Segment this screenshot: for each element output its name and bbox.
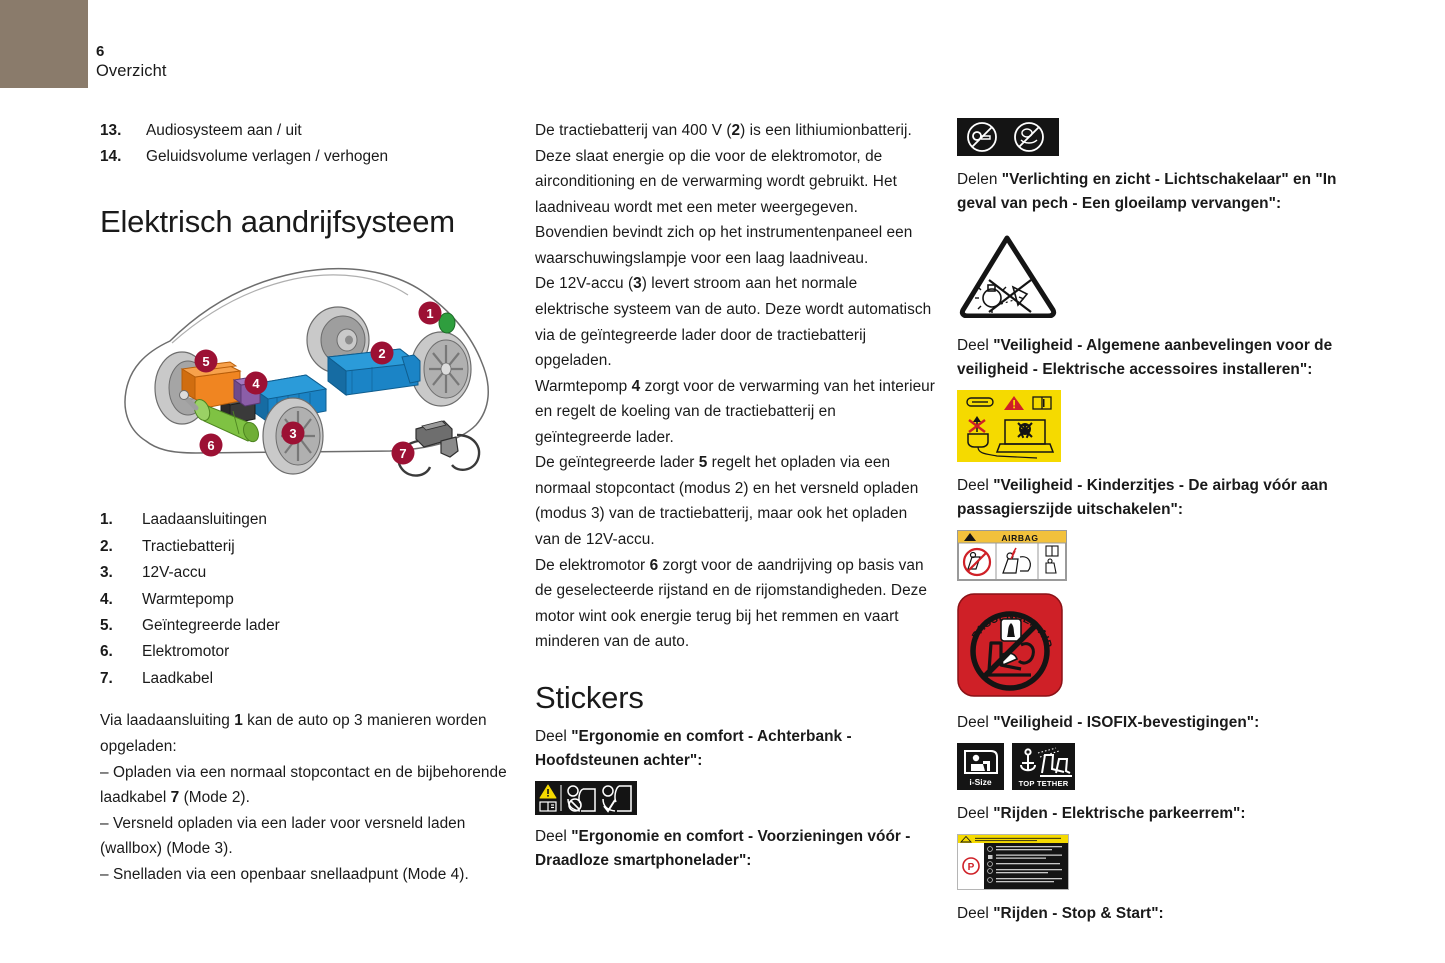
list-item-number: 1. — [100, 507, 142, 533]
part-reference: 1 — [234, 712, 243, 729]
list-item: 5.Geïntegreerde lader — [100, 613, 510, 639]
sticker-caption-parking-brake: Deel "Rijden - Elektrische parkeerrem": — [957, 802, 1357, 826]
dash-marker: – — [100, 815, 109, 832]
sticker-caption-stop-start: Deel "Rijden - Stop & Start": — [957, 902, 1357, 926]
list-item-label: Laadaansluitingen — [142, 507, 510, 533]
paragraph-text: Opladen via een normaal stopcontact en d… — [100, 764, 507, 807]
callout-2: 2 — [371, 342, 394, 365]
charging-intro: Via laadaansluiting 1 kan de auto op 3 m… — [100, 708, 510, 759]
list-item-number: 13. — [100, 118, 146, 144]
top-tether-sticker: TOP TETHER — [1012, 743, 1075, 790]
airbag-burst-icon — [1001, 619, 1021, 641]
list-item-label: Elektromotor — [142, 639, 510, 665]
parts-list: 1.Laadaansluitingen2.Tractiebatterij3.12… — [100, 507, 510, 692]
paragraph-text: De elektromotor — [535, 557, 650, 574]
list-item-number: 6. — [100, 639, 142, 665]
headrest-warning-sticker — [535, 781, 637, 815]
part-reference: 2 — [732, 122, 741, 139]
list-item-label: Audiosysteem aan / uit — [146, 118, 510, 144]
paragraph-text: Snelladen via een openbaar snellaadpunt … — [109, 866, 469, 883]
dash-marker: – — [100, 764, 109, 781]
caption-body: "Ergonomie en comfort - Achterbank - Hoo… — [535, 728, 852, 769]
column-middle: De tractiebatterij van 400 V (2) is een … — [535, 118, 935, 873]
top-control-list: 13.Audiosysteem aan / uit14.Geluidsvolum… — [100, 118, 510, 171]
callout-1: 1 — [419, 302, 442, 325]
svg-text:6: 6 — [207, 438, 214, 453]
park-symbol-label: P — [968, 862, 975, 873]
callout-7: 7 — [392, 442, 415, 465]
list-item-number: 7. — [100, 666, 142, 692]
callout-6: 6 — [200, 434, 223, 457]
top-tether-label: TOP TETHER — [1019, 779, 1069, 788]
charge-port-part — [439, 313, 455, 333]
column-right: Delen "Verlichting en zicht - Lichtschak… — [957, 118, 1357, 926]
column-left: 13.Audiosysteem aan / uit14.Geluidsvolum… — [100, 118, 510, 887]
isize-label: i-Size — [969, 777, 991, 787]
caption-lead: Deel — [957, 905, 993, 922]
paragraph-text: De tractiebatterij van 400 V ( — [535, 122, 732, 139]
part-reference: 7 — [171, 789, 180, 806]
list-item: 4.Warmtepomp — [100, 587, 510, 613]
svg-text:7: 7 — [399, 446, 406, 461]
dash-marker: – — [100, 866, 109, 883]
no-lamp-touch-sticker — [957, 118, 1059, 156]
list-item-label: 12V-accu — [142, 560, 510, 586]
isofix-tether-stickers: i-Size — [957, 743, 1357, 790]
svg-text:3: 3 — [289, 426, 296, 441]
svg-text:5: 5 — [202, 354, 209, 369]
list-item-label: Laadkabel — [142, 666, 510, 692]
list-item: 3.12V-accu — [100, 560, 510, 586]
paragraph-text: Versneld opladen via een lader voor vers… — [100, 815, 465, 858]
sticker-caption-lights: Delen "Verlichting en zicht - Lichtschak… — [957, 168, 1357, 216]
list-item-label: Tractiebatterij — [142, 534, 510, 560]
middle-paragraphs: De tractiebatterij van 400 V (2) is een … — [535, 118, 935, 655]
svg-text:4: 4 — [252, 376, 260, 391]
manual-child-seat-icon — [1046, 546, 1058, 573]
paragraph-traction-battery: De tractiebatterij van 400 V (2) is een … — [535, 118, 935, 271]
callout-3: 3 — [282, 422, 305, 445]
airbag-deploy-icon — [1003, 553, 1030, 573]
page-number: 6 — [96, 43, 167, 61]
caption-lead: Deel — [957, 337, 993, 354]
paragraph-electric-motor: De elektromotor 6 zorgt voor de aandrijv… — [535, 553, 935, 655]
caption-body: "Veiligheid - ISOFIX-bevestigingen": — [993, 714, 1259, 731]
sticker-caption-wireless-charger: Deel "Ergonomie en comfort - Voorziening… — [535, 825, 935, 873]
caption-lead: Deel — [957, 714, 993, 731]
sticker-caption-headrest: Deel "Ergonomie en comfort - Achterbank … — [535, 725, 935, 773]
hid-warning-triangle-sticker — [957, 232, 1061, 318]
caption-lead: Delen — [957, 171, 1002, 188]
list-item: 1.Laadaansluitingen — [100, 507, 510, 533]
list-item: 14.Geluidsvolume verlagen / verhogen — [100, 144, 510, 170]
paragraph-12v-battery: De 12V-accu (3) levert stroom aan het no… — [535, 271, 935, 373]
isize-sticker: i-Size — [957, 743, 1004, 790]
list-item: 7.Laadkabel — [100, 666, 510, 692]
page-section-title: Overzicht — [96, 61, 167, 81]
paragraph-text: (Mode 2). — [179, 789, 250, 806]
page-corner-block — [0, 0, 88, 88]
callout-4: 4 — [245, 372, 268, 395]
svg-text:2: 2 — [378, 346, 385, 361]
part-reference: 4 — [632, 378, 641, 395]
yellow-electrical-hazard-sticker — [957, 390, 1061, 462]
caption-lead: Deel — [535, 728, 571, 745]
charging-mode-item: – Versneld opladen via een lader voor ve… — [100, 811, 510, 862]
paragraph-text: ) is een lithiumionbatterij. Deze slaat … — [535, 122, 912, 267]
list-item-label: Warmtepomp — [142, 587, 510, 613]
caption-lead: Deel — [957, 805, 993, 822]
heading-stickers: Stickers — [535, 681, 935, 715]
list-item-number: 5. — [100, 613, 142, 639]
list-item-number: 14. — [100, 144, 146, 170]
caption-body: "Veiligheid - Kinderzitjes - De airbag v… — [957, 477, 1328, 518]
list-item-label: Geïntegreerde lader — [142, 613, 510, 639]
charging-modes: – Opladen via een normaal stopcontact en… — [100, 760, 510, 888]
electric-drivetrain-diagram: 1 2 3 4 5 6 7 — [100, 245, 510, 495]
paragraph-heat-pump: Warmtepomp 4 zorgt voor de verwarming va… — [535, 374, 935, 451]
sticker-caption-airbag-deactivate: Deel "Veiligheid - Kinderzitjes - De air… — [957, 474, 1357, 522]
page-header: 6 Overzicht — [96, 43, 167, 81]
svg-text:1: 1 — [426, 306, 433, 321]
airbag-label: AIRBAG — [1001, 533, 1038, 543]
list-item: 13.Audiosysteem aan / uit — [100, 118, 510, 144]
list-item-label: Geluidsvolume verlagen / verhogen — [146, 144, 510, 170]
caption-body: "Rijden - Elektrische parkeerrem": — [993, 805, 1245, 822]
list-item: 2.Tractiebatterij — [100, 534, 510, 560]
paragraph-text: Via laadaansluiting — [100, 712, 234, 729]
airbag-panel-sticker: AIRBAG — [957, 530, 1067, 581]
part-reference: 6 — [650, 557, 659, 574]
caption-body: "Ergonomie en comfort - Voorzieningen vó… — [535, 828, 910, 869]
charging-mode-item: – Snelladen via een openbaar snellaadpun… — [100, 862, 510, 888]
paragraph-integrated-charger: De geïntegreerde lader 5 regelt het opla… — [535, 450, 935, 552]
caption-body: "Verlichting en zicht - Lichtschakelaar"… — [957, 171, 1337, 212]
caption-body: "Rijden - Stop & Start": — [993, 905, 1164, 922]
paragraph-text: De geïntegreerde lader — [535, 454, 699, 471]
paragraph-text: Warmtepomp — [535, 378, 632, 395]
sticker-caption-electrical-accessories: Deel "Veiligheid - Algemene aanbevelinge… — [957, 334, 1357, 382]
part-reference: 3 — [633, 275, 642, 292]
paragraph-text: De 12V-accu ( — [535, 275, 633, 292]
passenger-airbag-sticker: PASSENGER AIRBAG — [957, 593, 1063, 697]
caption-body: "Veiligheid - Algemene aanbevelingen voo… — [957, 337, 1332, 378]
prohibition-icon — [964, 549, 990, 575]
caption-lead: Deel — [957, 477, 993, 494]
list-item-number: 4. — [100, 587, 142, 613]
list-item: 6.Elektromotor — [100, 639, 510, 665]
list-item-number: 3. — [100, 560, 142, 586]
callout-5: 5 — [195, 350, 218, 373]
parking-brake-sticker: P — [957, 834, 1069, 890]
sticker-caption-isofix: Deel "Veiligheid - ISOFIX-bevestigingen"… — [957, 711, 1357, 735]
list-item-number: 2. — [100, 534, 142, 560]
caption-lead: Deel — [535, 828, 571, 845]
heading-elektrisch-aandrijfsysteem: Elektrisch aandrijfsysteem — [100, 205, 510, 239]
charging-mode-item: – Opladen via een normaal stopcontact en… — [100, 760, 510, 811]
